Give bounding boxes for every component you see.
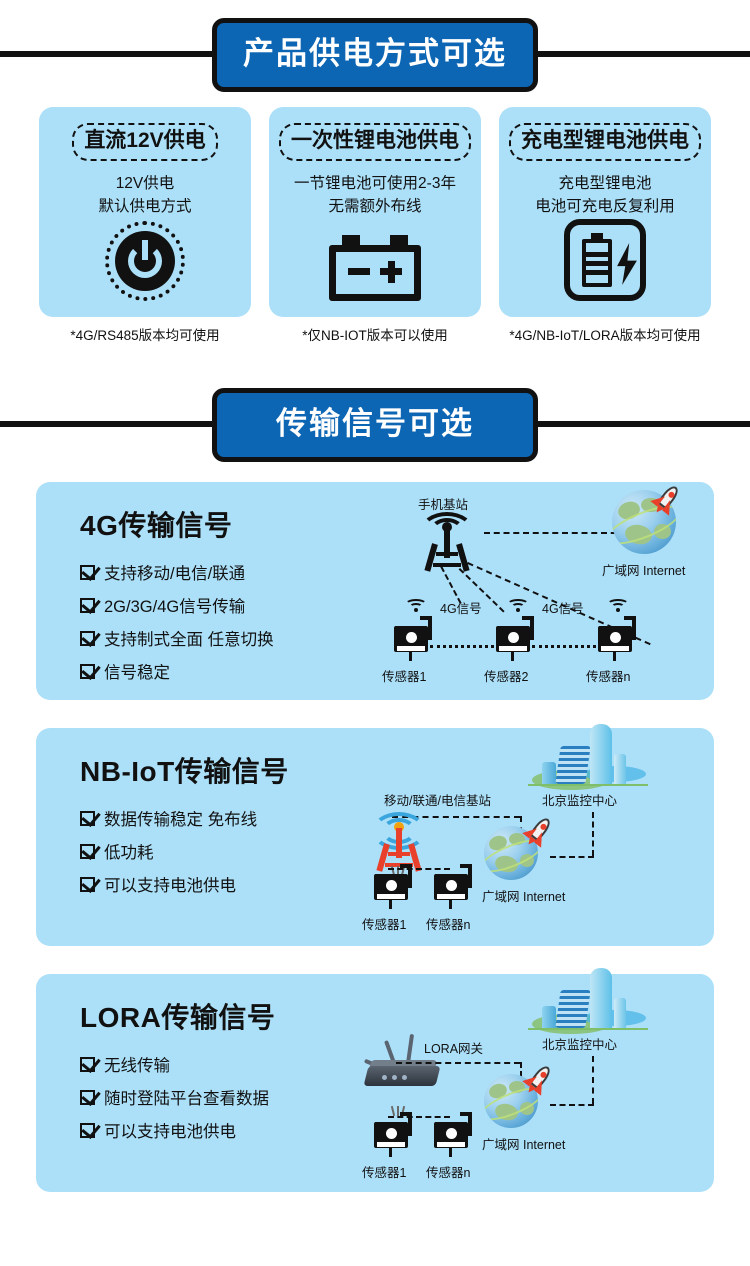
signal-feature-label: 信号稳定 [104, 659, 170, 683]
wifi-icon [404, 594, 428, 612]
sensor-device-icon [374, 870, 414, 910]
check-icon [80, 598, 95, 613]
power-card-title: 一次性锂电池供电 [279, 123, 471, 161]
center-internet-link [550, 1104, 594, 1106]
signal-block-title: 4G传输信号 [80, 504, 356, 544]
signal-feature-item: 无线传输 [80, 1052, 356, 1076]
rechargeable-battery-icon [564, 219, 646, 301]
diagram-internet-label: 广域网 Internet [602, 560, 685, 579]
power-card-primary-lithium: 一次性锂电池供电 一节锂电池可使用2-3年 无需额外布线 *仅NB-IOT版本可… [269, 107, 481, 346]
signal-feature-label: 低功耗 [104, 839, 154, 863]
power-card-note: *4G/NB-IoT/LORA版本均可使用 [498, 326, 713, 346]
diagram-tower-label: 手机基站 [418, 494, 468, 513]
check-icon [80, 877, 95, 892]
check-icon [80, 811, 95, 826]
diagram-internet-label: 广域网 Internet [482, 1134, 565, 1153]
power-banner-title: 产品供电方式可选 [217, 37, 533, 71]
lora-gateway-icon [362, 1036, 442, 1086]
diagram-center-label: 北京监控中心 [542, 1034, 617, 1053]
sensor-label: 传感器n [426, 914, 470, 933]
check-icon [80, 664, 95, 679]
power-card-desc-line: 12V供电 [98, 173, 191, 195]
power-card-desc: 充电型锂电池 电池可充电反复利用 [535, 173, 675, 218]
signal-block-nbiot: NB-IoT传输信号 数据传输稳定 免布线 低功耗 可以支持电池供电 北京监控中… [36, 728, 714, 946]
signal-feature-list: 支持移动/电信/联通 2G/3G/4G信号传输 支持制式全面 任意切换 信号稳定 [80, 560, 356, 683]
sensor-label: 传感器1 [362, 914, 406, 933]
signal-banner: 传输信号可选 [0, 388, 750, 460]
signal-feature-item: 2G/3G/4G信号传输 [80, 593, 356, 617]
signal-feature-label: 可以支持电池供电 [104, 872, 236, 896]
center-internet-link [550, 856, 594, 858]
signal-block-4g-text: 4G传输信号 支持移动/电信/联通 2G/3G/4G信号传输 支持制式全面 任意… [36, 482, 356, 700]
sensor-label: 传感器2 [484, 666, 528, 685]
sensor-label: 传感器n [426, 1162, 470, 1181]
signal-feature-item: 可以支持电池供电 [80, 1118, 356, 1142]
gateway-internet-link [396, 1062, 520, 1064]
power-card-rechargeable-lithium: 充电型锂电池供电 充电型锂电池 电池可充电反复利用 *4G/NB-IoT/LOR… [499, 107, 711, 346]
signal-block-nbiot-text: NB-IoT传输信号 数据传输稳定 免布线 低功耗 可以支持电池供电 [36, 728, 356, 946]
signal-feature-label: 数据传输稳定 免布线 [104, 806, 257, 830]
signal-feature-item: 数据传输稳定 免布线 [80, 806, 356, 830]
sensor-label: 传感器1 [362, 1162, 406, 1181]
signal-feature-item: 可以支持电池供电 [80, 872, 356, 896]
power-cards: 直流12V供电 12V供电 默认供电方式 *4G/RS485版本均可使用 一次性… [0, 107, 750, 346]
power-card-desc-line: 无需额外布线 [294, 196, 456, 218]
signal-block-lora-text: LORA传输信号 无线传输 随时登陆平台查看数据 可以支持电池供电 [36, 974, 356, 1192]
power-banner: 产品供电方式可选 [0, 18, 750, 90]
signal-feature-list: 无线传输 随时登陆平台查看数据 可以支持电池供电 [80, 1052, 356, 1142]
center-vertical-link [592, 812, 594, 856]
signal-feature-label: 可以支持电池供电 [104, 1118, 236, 1142]
check-icon [80, 1090, 95, 1105]
sensor-label: 传感器1 [382, 666, 426, 685]
signal-feature-item: 低功耗 [80, 839, 356, 863]
power-card-note: *仅NB-IOT版本可以使用 [268, 326, 483, 346]
signal-block-title: LORA传输信号 [80, 996, 356, 1036]
signal-feature-label: 支持移动/电信/联通 [104, 560, 245, 584]
power-card-body: 一次性锂电池供电 一节锂电池可使用2-3年 无需额外布线 [269, 107, 481, 317]
signal-banner-box: 传输信号可选 [212, 388, 538, 462]
signal-feature-item: 随时登陆平台查看数据 [80, 1085, 356, 1109]
power-button-icon [105, 221, 185, 301]
sensor-device-icon [374, 1118, 414, 1158]
wifi-icon [606, 594, 630, 612]
sensor-label: 传感器n [586, 666, 630, 685]
signal-feature-label: 支持制式全面 任意切换 [104, 626, 274, 650]
signal-block-lora: LORA传输信号 无线传输 随时登陆平台查看数据 可以支持电池供电 北京监控中心… [36, 974, 714, 1192]
signal-label-2: 4G信号 [542, 598, 584, 617]
signal-label-1: 4G信号 [440, 598, 482, 617]
signal-feature-label: 无线传输 [104, 1052, 170, 1076]
signal-feature-item: 支持制式全面 任意切换 [80, 626, 356, 650]
check-icon [80, 844, 95, 859]
signal-block-lora-diagram: 北京监控中心 LORA网关 广域网 Internet 传感器1 [356, 974, 714, 1192]
power-card-desc-line: 充电型锂电池 [535, 173, 675, 195]
sensor-device-icon [394, 622, 434, 662]
power-banner-box: 产品供电方式可选 [212, 18, 538, 92]
center-vertical-link [592, 1056, 594, 1104]
sensor-bus-line [430, 645, 494, 648]
cell-tower-icon [420, 516, 474, 572]
car-battery-icon [329, 235, 421, 301]
signal-block-title: NB-IoT传输信号 [80, 750, 356, 790]
power-card-body: 直流12V供电 12V供电 默认供电方式 [39, 107, 251, 317]
signal-feature-list: 数据传输稳定 免布线 低功耗 可以支持电池供电 [80, 806, 356, 896]
sensor-device-icon [598, 622, 638, 662]
diagram-internet-label: 广域网 Internet [482, 886, 565, 905]
check-icon [80, 565, 95, 580]
wifi-icon [506, 594, 530, 612]
check-icon [80, 1057, 95, 1072]
signal-block-nbiot-diagram: 北京监控中心 移动/联通/电信基站 广域网 Internet 传感器 [356, 728, 714, 946]
check-icon [80, 1123, 95, 1138]
sensor-bus-line [532, 645, 596, 648]
power-card-dc12v: 直流12V供电 12V供电 默认供电方式 *4G/RS485版本均可使用 [39, 107, 251, 346]
sensor-device-icon [434, 870, 474, 910]
power-card-desc: 12V供电 默认供电方式 [98, 173, 191, 218]
signal-feature-item: 信号稳定 [80, 659, 356, 683]
signal-feature-item: 支持移动/电信/联通 [80, 560, 356, 584]
check-icon [80, 631, 95, 646]
power-card-title: 直流12V供电 [72, 123, 217, 161]
signal-feature-label: 2G/3G/4G信号传输 [104, 593, 245, 617]
sensor-device-icon [434, 1118, 474, 1158]
signal-block-4g-diagram: 手机基站 广域网 Internet 4G信号 4G信号 [356, 482, 714, 700]
power-card-note: *4G/RS485版本均可使用 [38, 326, 253, 346]
power-card-desc-line: 一节锂电池可使用2-3年 [294, 173, 456, 195]
signal-feature-label: 随时登陆平台查看数据 [104, 1085, 269, 1109]
signal-block-4g: 4G传输信号 支持移动/电信/联通 2G/3G/4G信号传输 支持制式全面 任意… [36, 482, 714, 700]
power-card-desc-line: 电池可充电反复利用 [535, 196, 675, 218]
diagram-tower-label: 移动/联通/电信基站 [384, 790, 491, 809]
sensor-device-icon [496, 622, 536, 662]
power-card-desc-line: 默认供电方式 [98, 196, 191, 218]
power-card-desc: 一节锂电池可使用2-3年 无需额外布线 [294, 173, 456, 218]
city-skyline-icon [528, 968, 648, 1042]
power-card-title: 充电型锂电池供电 [509, 123, 701, 161]
power-card-body: 充电型锂电池供电 充电型锂电池 电池可充电反复利用 [499, 107, 711, 317]
city-skyline-icon [528, 724, 648, 798]
diagram-center-label: 北京监控中心 [542, 790, 617, 809]
signal-banner-title: 传输信号可选 [217, 407, 533, 441]
